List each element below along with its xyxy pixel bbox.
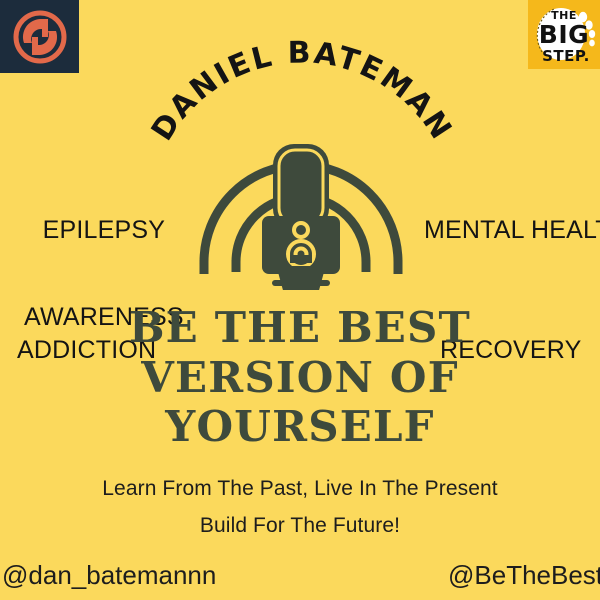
headline: BE THE BEST VERSION OF YOURSELF xyxy=(0,303,600,452)
handle-instagram: @dan_batemannn xyxy=(2,560,216,591)
db-monogram-icon xyxy=(12,9,68,65)
microphone-stand-icon xyxy=(196,255,406,295)
handle-podcast: @BeTheBestVY xyxy=(448,560,600,591)
tagline-line-1: Learn From The Past, Live In The Present xyxy=(0,470,600,507)
brand-logo-square xyxy=(0,0,79,73)
partner-logo-the-big-step: THE BIG STEP. xyxy=(528,0,600,69)
poster-canvas: THE BIG STEP. DANIEL BATEMAN xyxy=(0,0,600,600)
headline-line-1: BE THE BEST xyxy=(0,303,600,353)
tagline: Learn From The Past, Live In The Present… xyxy=(0,470,600,545)
headline-line-2: VERSION OF xyxy=(0,353,600,403)
tagline-line-2: Build For The Future! xyxy=(0,507,600,544)
keyword-line: MENTAL HEALTH xyxy=(424,216,600,245)
svg-text:BIG: BIG xyxy=(539,20,589,49)
headline-line-3: YOURSELF xyxy=(0,402,600,452)
svg-text:STEP.: STEP. xyxy=(542,47,590,65)
keyword-line: EPILEPSY xyxy=(24,216,184,245)
